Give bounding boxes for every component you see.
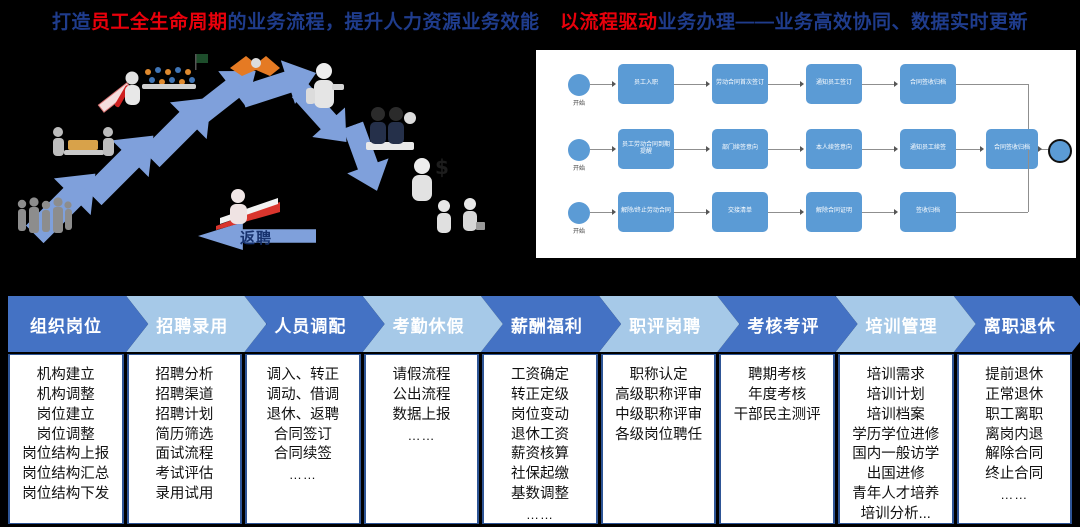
matrix-item[interactable]: 考试评估 (155, 465, 213, 485)
matrix-item[interactable]: 岗位变动 (511, 406, 569, 426)
flow-node-r3-1[interactable]: 交接清单 (712, 192, 768, 232)
matrix-header-label: 薪酬福利 (511, 312, 583, 337)
title-right-highlight: 以流程驱动 (560, 12, 658, 33)
flow-connector (956, 212, 1028, 213)
matrix-item[interactable]: 年度考核 (748, 386, 806, 406)
matrix-item[interactable]: 职称认定 (630, 366, 688, 386)
matrix-item[interactable]: 转正定级 (511, 386, 569, 406)
matrix-item[interactable]: 培训需求 (867, 366, 925, 386)
matrix-item[interactable]: 培训计划 (867, 386, 925, 406)
matrix-ellipsis: …… (407, 426, 435, 447)
flow-node-r3-0[interactable]: 解除/终止劳动合同 (618, 192, 674, 232)
matrix-item[interactable]: 请假流程 (392, 366, 450, 386)
matrix-item[interactable]: 调动、借调 (267, 386, 340, 406)
matrix-header-label: 职评岗聘 (629, 312, 701, 337)
matrix-header-1[interactable]: 组织岗位 (8, 296, 148, 352)
titles-bar: 打造员工全生命周期的业务流程，提升人力资源业务效能 以流程驱动业务办理——业务高… (0, 0, 1080, 46)
matrix-column-7: 聘期考核年度考核干部民主测评 (719, 354, 835, 524)
matrix-item[interactable]: 离岗内退 (985, 426, 1043, 446)
flow-arrowhead-icon (800, 146, 804, 152)
flow-connector (862, 212, 894, 213)
matrix-column-4: 请假流程公出流程数据上报…… (364, 354, 480, 524)
flow-arrowhead-icon (612, 81, 616, 87)
matrix-item[interactable]: 干部民主测评 (734, 406, 821, 426)
title-left-post: 的业务流程，提升人力资源业务效能 (228, 12, 540, 33)
process-flow-panel: 开始 员工入职 劳动合同首次签订 通知员工签订 合同签收归档 开始 员工劳动合同… (536, 50, 1076, 258)
flow-node-r1-3[interactable]: 合同签收归档 (900, 64, 956, 104)
matrix-item[interactable]: 合同续签 (274, 445, 332, 465)
flow-connector (1028, 150, 1029, 212)
matrix-item[interactable]: 招聘渠道 (155, 386, 213, 406)
flow-node-r2-1[interactable]: 部门续签意向 (712, 129, 768, 169)
flow-connector (862, 84, 894, 85)
matrix-ellipsis: …… (526, 505, 554, 526)
svg-text:$: $ (435, 155, 449, 179)
flow-arrowhead-icon (894, 81, 898, 87)
title-right-post: 业务办理——业务高效协同、数据实时更新 (658, 12, 1029, 33)
page-title-left: 打造员工全生命周期的业务流程，提升人力资源业务效能 (52, 7, 540, 34)
flow-arrowhead-icon (706, 146, 710, 152)
flow-node-r2-4[interactable]: 合同签收归档 (986, 129, 1038, 169)
matrix-ellipsis: …… (1000, 485, 1028, 506)
matrix-item[interactable]: 面试流程 (155, 445, 213, 465)
matrix-item[interactable]: 岗位结构上报 (22, 445, 109, 465)
flow-connector (590, 84, 612, 85)
flow-connector (674, 212, 706, 213)
figurine-handshake (226, 48, 284, 82)
matrix-item[interactable]: 正常退休 (985, 386, 1043, 406)
matrix-item[interactable]: 岗位结构下发 (22, 485, 109, 505)
matrix-column-2: 招聘分析招聘渠道招聘计划简历筛选面试流程考试评估录用试用 (127, 354, 243, 524)
matrix-item[interactable]: 提前退休 (985, 366, 1043, 386)
matrix-item[interactable]: 工资确定 (511, 366, 569, 386)
matrix-item[interactable]: 公出流程 (392, 386, 450, 406)
matrix-item[interactable]: 解除合同 (985, 445, 1043, 465)
matrix-item[interactable]: 终止合同 (985, 465, 1043, 485)
flow-connector (590, 149, 612, 150)
matrix-column-6: 职称认定高级职称评审中级职称评审各级岗位聘任 (601, 354, 717, 524)
matrix-item[interactable]: 招聘分析 (155, 366, 213, 386)
matrix-header-label: 人员调配 (274, 312, 346, 337)
matrix-item[interactable]: 职工离职 (985, 406, 1043, 426)
matrix-item[interactable]: 培训分析... (861, 505, 931, 525)
flow-connector (956, 149, 980, 150)
figurine-onboarding (50, 122, 118, 164)
flow-node-r3-2[interactable]: 解除合同证明 (806, 192, 862, 232)
matrix-item[interactable]: 岗位调整 (37, 426, 95, 446)
flow-start-circle-row1 (568, 74, 590, 96)
flow-arrowhead-icon (612, 209, 616, 215)
matrix-column-5: 工资确定转正定级岗位变动退休工资薪资核算社保起缴基数调整…… (482, 354, 598, 524)
recall-arrow-label: 返聘 (240, 227, 272, 248)
figurine-training-class (140, 52, 212, 92)
matrix-item[interactable]: 基数调整 (511, 485, 569, 505)
matrix-item[interactable]: 学历学位进修 (852, 426, 939, 446)
flow-start-circle-row2 (568, 139, 590, 161)
flow-start-circle-row3 (568, 202, 590, 224)
flow-arrowhead-icon (706, 81, 710, 87)
flow-arrowhead-icon (800, 81, 804, 87)
matrix-header-label: 考核考评 (747, 312, 819, 337)
flow-node-r1-2[interactable]: 通知员工签订 (806, 64, 862, 104)
matrix-item[interactable]: 高级职称评审 (615, 386, 702, 406)
flow-arrowhead-icon (800, 209, 804, 215)
matrix-item[interactable]: 岗位建立 (37, 406, 95, 426)
flow-start-label-row2: 开始 (564, 163, 594, 172)
matrix-item[interactable]: 调入、转正 (267, 366, 340, 386)
flow-node-r1-1[interactable]: 劳动合同首次签订 (712, 64, 768, 104)
flow-node-r3-3[interactable]: 签收归档 (900, 192, 956, 232)
matrix-item[interactable]: 中级职称评审 (615, 406, 702, 426)
matrix-item[interactable]: 各级岗位聘任 (615, 426, 702, 446)
matrix-header-row: 组织岗位招聘录用人员调配考勤休假薪酬福利职评岗聘考核考评培训管理离职退休 (8, 296, 1072, 352)
matrix-header-label: 招聘录用 (156, 312, 228, 337)
figurine-group-candidates (14, 194, 72, 242)
matrix-item[interactable]: 数据上报 (392, 406, 450, 426)
matrix-item[interactable]: 培训档案 (867, 406, 925, 426)
matrix-column-9: 提前退休正常退休职工离职离岗内退解除合同终止合同…… (957, 354, 1073, 524)
matrix-item[interactable]: 出国进修 (867, 465, 925, 485)
flow-start-label-row3: 开始 (564, 226, 594, 235)
matrix-item[interactable]: 聘期考核 (748, 366, 806, 386)
flow-connector (768, 84, 800, 85)
flow-node-r2-0[interactable]: 员工劳动合同到期提醒 (618, 129, 674, 169)
flow-arrowhead-icon (612, 146, 616, 152)
matrix-item[interactable]: 岗位结构汇总 (22, 465, 109, 485)
matrix-item[interactable]: 合同签订 (274, 426, 332, 446)
flow-node-r2-2[interactable]: 本人续签意向 (806, 129, 862, 169)
matrix-item[interactable]: 社保起缴 (511, 465, 569, 485)
flow-arrowhead-icon (706, 209, 710, 215)
flow-connector (590, 212, 612, 213)
matrix-item[interactable]: 机构建立 (37, 366, 95, 386)
flow-arrowhead-icon (980, 146, 984, 152)
lifecycle-illustration: 返聘 (0, 44, 530, 284)
figurine-promotion (360, 102, 420, 158)
figurine-presenter (302, 60, 348, 118)
hr-process-matrix: 组织岗位招聘录用人员调配考勤休假薪酬福利职评岗聘考核考评培训管理离职退休 机构建… (8, 296, 1072, 524)
matrix-header-label: 考勤休假 (393, 312, 465, 337)
figurine-retire-redcarpet (214, 186, 284, 230)
matrix-column-8: 培训需求培训计划培训档案学历学位进修国内一般访学出国进修青年人才培养培训分析..… (838, 354, 954, 524)
flow-start-label-row1: 开始 (564, 98, 594, 107)
matrix-item[interactable]: 青年人才培养 (852, 485, 939, 505)
matrix-item[interactable]: 退休工资 (511, 426, 569, 446)
matrix-item[interactable]: 录用试用 (155, 485, 213, 505)
matrix-item[interactable]: 退休、返聘 (267, 406, 340, 426)
matrix-column-3: 调入、转正调动、借调退休、返聘合同签订合同续签…… (245, 354, 361, 524)
flow-connector (768, 212, 800, 213)
flow-connector (956, 84, 1028, 85)
flow-arrowhead-icon (894, 209, 898, 215)
figurine-leaving-pair (432, 194, 486, 240)
matrix-header-label: 离职退休 (984, 312, 1056, 337)
matrix-item[interactable]: 薪资核算 (511, 445, 569, 465)
flow-end-circle (1048, 139, 1072, 163)
flow-node-r1-0[interactable]: 员工入职 (618, 64, 674, 104)
flow-node-r2-3[interactable]: 通知员工续签 (900, 129, 956, 169)
matrix-body-row: 机构建立机构调整岗位建立岗位调整岗位结构上报岗位结构汇总岗位结构下发招聘分析招聘… (8, 354, 1072, 524)
matrix-item[interactable]: 国内一般访学 (852, 445, 939, 465)
page-title-right: 以流程驱动业务办理——业务高效协同、数据实时更新 (560, 7, 1028, 34)
title-left-highlight: 员工全生命周期 (91, 12, 228, 33)
title-left-pre: 打造 (52, 12, 91, 33)
matrix-item[interactable]: 简历筛选 (155, 426, 213, 446)
matrix-header-label: 组织岗位 (30, 312, 102, 337)
flow-connector (674, 149, 706, 150)
matrix-item[interactable]: 机构调整 (37, 386, 95, 406)
matrix-header-label: 培训管理 (866, 312, 938, 337)
flow-connector (768, 149, 800, 150)
flow-connector (674, 84, 706, 85)
matrix-ellipsis: …… (289, 465, 317, 486)
flow-connector (862, 149, 894, 150)
matrix-item[interactable]: 招聘计划 (155, 406, 213, 426)
flow-arrowhead-icon (1038, 146, 1042, 152)
flow-arrowhead-icon (894, 146, 898, 152)
matrix-column-1: 机构建立机构调整岗位建立岗位调整岗位结构上报岗位结构汇总岗位结构下发 (8, 354, 124, 524)
